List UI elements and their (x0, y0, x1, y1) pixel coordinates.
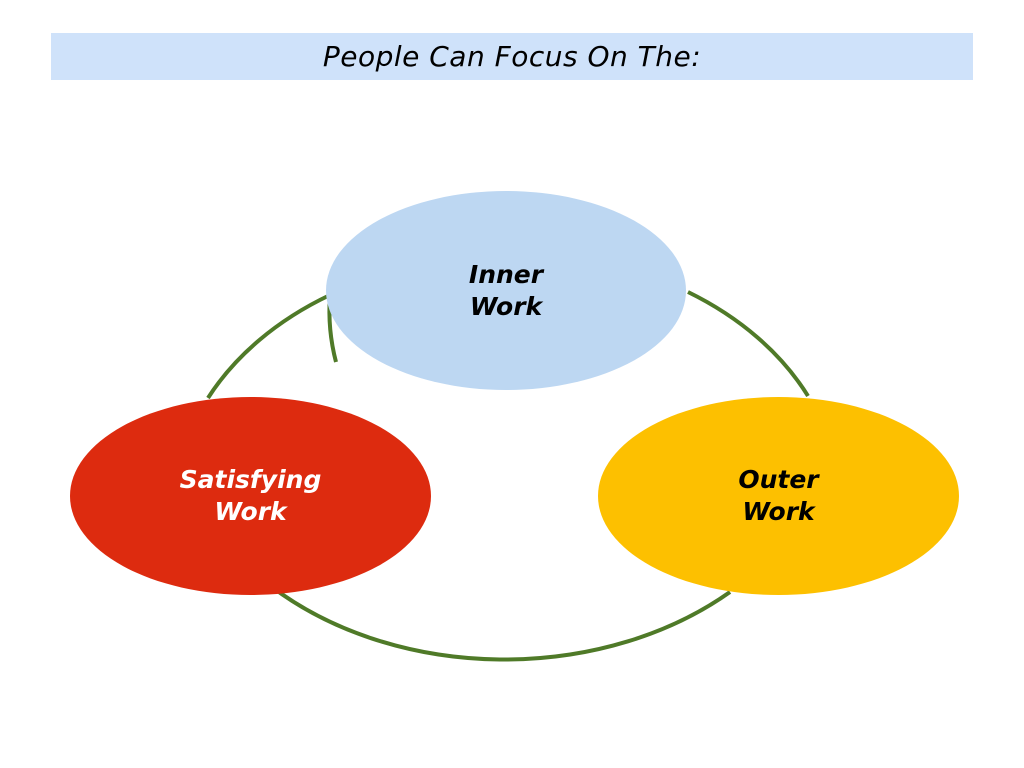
node-outer-work-label: Outer Work (728, 464, 828, 528)
arc-satisfying-to-outer (272, 587, 730, 660)
node-inner-work[interactable]: Inner Work (326, 191, 686, 390)
node-satisfying-work-label: Satisfying Work (170, 464, 332, 528)
arc-satisfying-to-inner (208, 295, 330, 398)
node-inner-work-label: Inner Work (459, 259, 553, 323)
node-outer-work[interactable]: Outer Work (598, 397, 959, 595)
arc-inner-to-outer (688, 292, 808, 396)
node-satisfying-work[interactable]: Satisfying Work (70, 397, 431, 595)
